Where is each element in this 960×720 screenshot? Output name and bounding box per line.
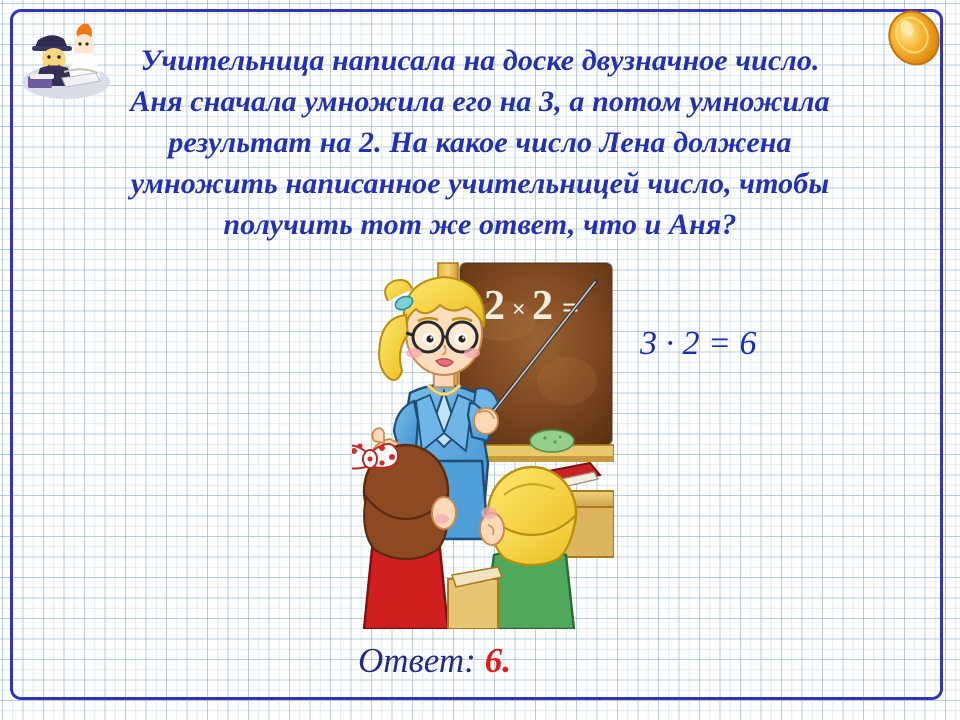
answer-line: Ответ:6. (358, 638, 511, 684)
problem-line-2: Аня сначала умножила его на 3, а потом у… (56, 81, 904, 122)
svg-text:2: 2 (532, 283, 553, 329)
problem-line-5: получить тот же ответ, что и Аня? (56, 204, 904, 245)
formula-expression: 3 · 2 = 6 (640, 324, 756, 364)
problem-statement: Учительница написала на доске двузначное… (56, 40, 904, 245)
chalkboard-text: 2 (484, 283, 506, 329)
problem-line-3: результат на 2. На какое число Лена долж… (56, 122, 904, 163)
classroom-illustration: 2 × 2 = (352, 261, 614, 629)
problem-line-1: Учительница написала на доске двузначное… (56, 40, 904, 81)
answer-value: 6. (485, 641, 511, 680)
svg-text:×: × (512, 297, 526, 323)
answer-label: Ответ: (358, 641, 476, 680)
slide-canvas: Учительница написала на доске двузначное… (0, 0, 960, 720)
problem-line-4: умножить написанное учительницей число, … (56, 163, 904, 204)
